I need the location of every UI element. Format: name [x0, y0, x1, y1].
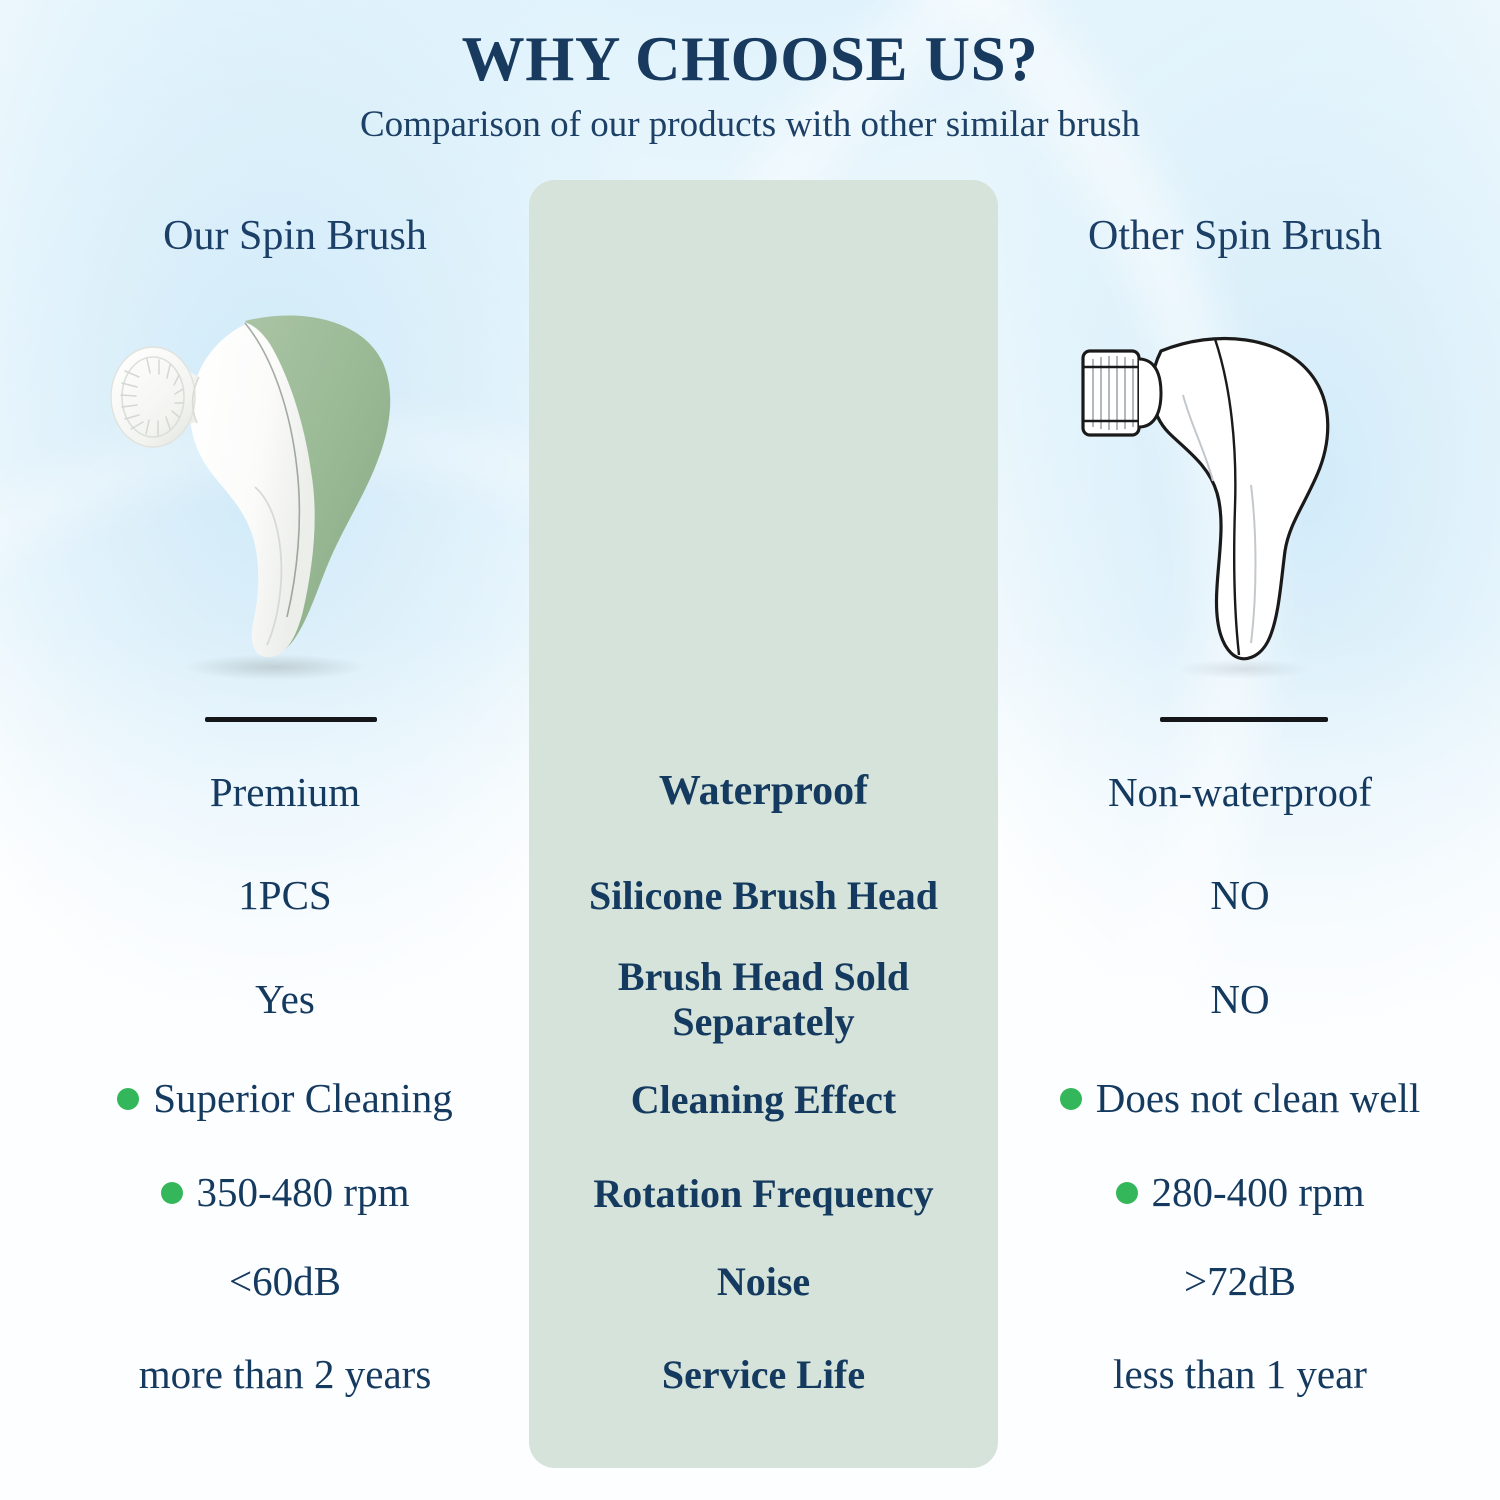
- row-4-ours: 350-480 rpm: [40, 1162, 530, 1224]
- row-0-other: Non-waterproof: [1000, 762, 1480, 824]
- row-3-ours: Superior Cleaning: [40, 1068, 530, 1130]
- row-3-other: Does not clean well: [1000, 1068, 1480, 1130]
- row-5-ours: <60dB: [40, 1252, 530, 1312]
- column-header-ours: Our Spin Brush: [60, 212, 530, 260]
- bullet-icon: [1060, 1088, 1082, 1110]
- row-4-other: 280-400 rpm: [1000, 1162, 1480, 1224]
- row-6-other: less than 1 year: [1000, 1344, 1480, 1406]
- our-spin-brush-image: [95, 305, 435, 680]
- row-2-ours: Yes: [40, 970, 530, 1030]
- divider-other: [1160, 717, 1328, 722]
- row-1-ours: 1PCS: [40, 866, 530, 926]
- row-1-feature: Silicone Brush Head: [529, 866, 998, 926]
- row-1-other: NO: [1000, 866, 1480, 926]
- row-0-feature: Waterproof: [529, 760, 998, 822]
- row-3-feature: Cleaning Effect: [529, 1070, 998, 1130]
- page-subtitle: Comparison of our products with other si…: [0, 103, 1500, 146]
- row-2-other: NO: [1000, 970, 1480, 1030]
- divider-ours: [205, 717, 377, 722]
- other-spin-brush-image: [1065, 325, 1365, 680]
- bullet-icon: [1116, 1182, 1138, 1204]
- row-2-feature: Brush Head Sold Separately: [529, 946, 998, 1054]
- bullet-icon: [117, 1088, 139, 1110]
- page-title: WHY CHOOSE US?: [0, 26, 1500, 93]
- row-4-feature: Rotation Frequency: [529, 1164, 998, 1224]
- column-header-other: Other Spin Brush: [1005, 212, 1465, 260]
- row-6-feature: Service Life: [529, 1344, 998, 1406]
- row-5-feature: Noise: [529, 1252, 998, 1312]
- row-0-ours: Premium: [40, 762, 530, 824]
- row-6-ours: more than 2 years: [40, 1344, 530, 1406]
- bullet-icon: [161, 1182, 183, 1204]
- row-5-other: >72dB: [1000, 1252, 1480, 1312]
